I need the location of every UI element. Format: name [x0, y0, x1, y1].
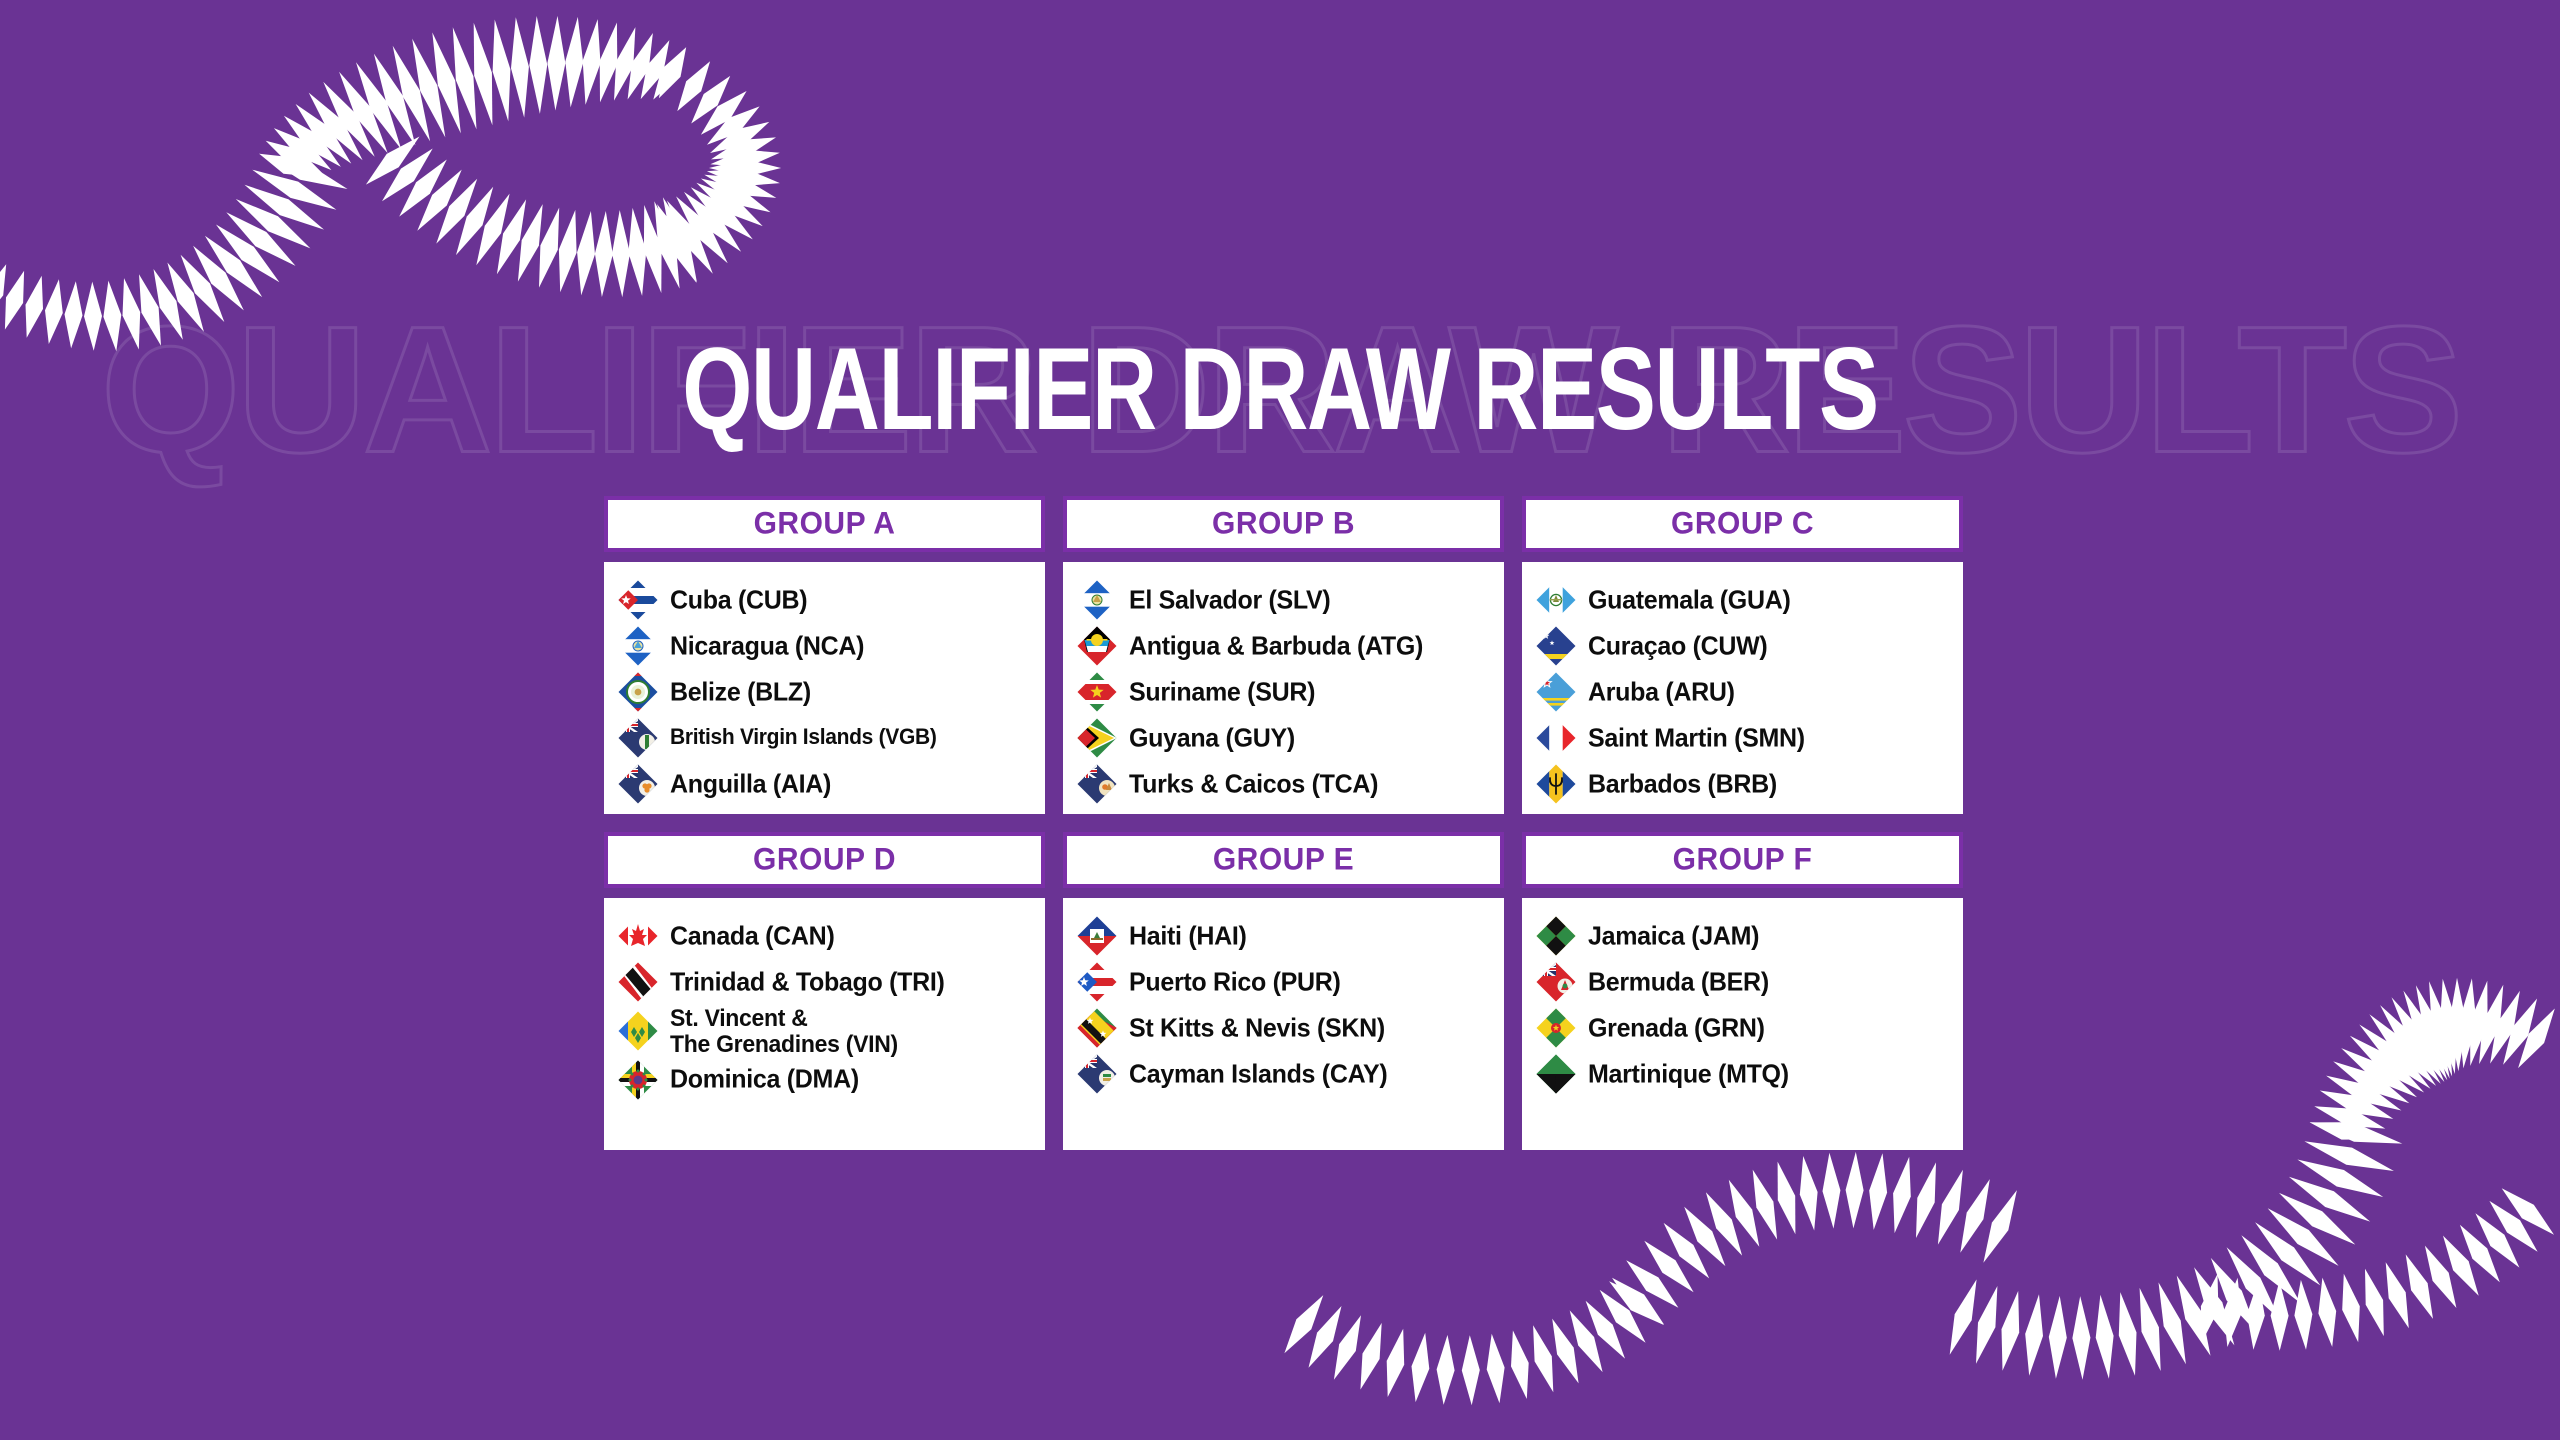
flag-cayman-islands-icon	[1077, 1054, 1117, 1094]
flag-haiti-icon	[1077, 916, 1117, 956]
group-team-list: Canada (CAN)Trinidad & Tobago (TRI)St. V…	[604, 898, 1045, 1150]
flag-el-salvador-icon	[1077, 580, 1117, 620]
team-name: Suriname (SUR)	[1129, 678, 1315, 706]
flag-aruba-icon	[1536, 672, 1576, 712]
flag-st-kitts-nevis-icon	[1077, 1008, 1117, 1048]
team-row: British Virgin Islands (VGB)	[618, 716, 1033, 760]
page-title: QUALIFIER DRAW RESULTS	[682, 323, 1878, 457]
team-row: Haiti (HAI)	[1077, 914, 1492, 958]
team-name: Cayman Islands (CAY)	[1129, 1060, 1387, 1088]
group-header-label: GROUP E	[1213, 842, 1354, 878]
team-row: Jamaica (JAM)	[1536, 914, 1951, 958]
flag-saint-martin-icon	[1536, 718, 1576, 758]
flag-cuba-icon	[618, 580, 658, 620]
flag-dominica-icon	[618, 1060, 658, 1100]
group-card-f: GROUP FJamaica (JAM)Bermuda (BER)Grenada…	[1522, 832, 1963, 1150]
group-card-b: GROUP BEl Salvador (SLV)Antigua & Barbud…	[1063, 496, 1504, 814]
team-row: Nicaragua (NCA)	[618, 624, 1033, 668]
flag-canada-icon	[618, 916, 658, 956]
group-header: GROUP C	[1522, 496, 1963, 552]
team-row: Bermuda (BER)	[1536, 960, 1951, 1004]
team-row: Barbados (BRB)	[1536, 762, 1951, 806]
team-name: Trinidad & Tobago (TRI)	[670, 968, 945, 996]
team-row: Trinidad & Tobago (TRI)	[618, 960, 1033, 1004]
flag-martinique-icon	[1536, 1054, 1576, 1094]
team-name: Dominica (DMA)	[670, 1066, 859, 1094]
team-name: Saint Martin (SMN)	[1588, 724, 1805, 752]
flag-curacao-icon	[1536, 626, 1576, 666]
team-row: Cuba (CUB)	[618, 578, 1033, 622]
team-row: St Kitts & Nevis (SKN)	[1077, 1006, 1492, 1050]
team-name: Anguilla (AIA)	[670, 770, 831, 798]
group-team-list: Haiti (HAI)Puerto Rico (PUR)St Kitts & N…	[1063, 898, 1504, 1150]
team-name: Grenada (GRN)	[1588, 1014, 1765, 1042]
team-row: Antigua & Barbuda (ATG)	[1077, 624, 1492, 668]
team-name: Belize (BLZ)	[670, 678, 811, 706]
team-row: Cayman Islands (CAY)	[1077, 1052, 1492, 1096]
team-name: Bermuda (BER)	[1588, 968, 1769, 996]
flag-belize-icon	[618, 672, 658, 712]
team-row: Suriname (SUR)	[1077, 670, 1492, 714]
team-row: Turks & Caicos (TCA)	[1077, 762, 1492, 806]
team-row: St. Vincent & The Grenadines (VIN)	[618, 1006, 1033, 1056]
flag-antigua-barbuda-icon	[1077, 626, 1117, 666]
groups-grid: GROUP ACuba (CUB)Nicaragua (NCA)Belize (…	[604, 496, 1964, 1150]
group-card-d: GROUP DCanada (CAN)Trinidad & Tobago (TR…	[604, 832, 1045, 1150]
team-row: Grenada (GRN)	[1536, 1006, 1951, 1050]
group-card-a: GROUP ACuba (CUB)Nicaragua (NCA)Belize (…	[604, 496, 1045, 814]
group-team-list: Guatemala (GUA)Curaçao (CUW)Aruba (ARU)S…	[1522, 562, 1963, 814]
team-name: Aruba (ARU)	[1588, 678, 1735, 706]
team-row: Dominica (DMA)	[618, 1058, 1033, 1102]
team-name: Nicaragua (NCA)	[670, 632, 864, 660]
team-row: Puerto Rico (PUR)	[1077, 960, 1492, 1004]
team-name: Barbados (BRB)	[1588, 770, 1777, 798]
team-name: Guatemala (GUA)	[1588, 586, 1790, 614]
team-row: Saint Martin (SMN)	[1536, 716, 1951, 760]
flag-bermuda-icon	[1536, 962, 1576, 1002]
team-name: St Kitts & Nevis (SKN)	[1129, 1014, 1385, 1042]
group-header: GROUP E	[1063, 832, 1504, 888]
title-block: QUALIFIER DRAW RESULTS QUALIFIER DRAW RE…	[0, 300, 2560, 480]
group-header: GROUP F	[1522, 832, 1963, 888]
team-name: St. Vincent & The Grenadines (VIN)	[670, 1005, 898, 1057]
team-name: Puerto Rico (PUR)	[1129, 968, 1341, 996]
group-team-list: Cuba (CUB)Nicaragua (NCA)Belize (BLZ)Bri…	[604, 562, 1045, 814]
flag-nicaragua-icon	[618, 626, 658, 666]
group-header: GROUP D	[604, 832, 1045, 888]
team-name: El Salvador (SLV)	[1129, 586, 1330, 614]
flag-grenada-icon	[1536, 1008, 1576, 1048]
team-row: Belize (BLZ)	[618, 670, 1033, 714]
team-name: Curaçao (CUW)	[1588, 632, 1767, 660]
flag-british-virgin-islands-icon	[618, 718, 658, 758]
team-name: Cuba (CUB)	[670, 586, 807, 614]
group-card-e: GROUP EHaiti (HAI)Puerto Rico (PUR)St Ki…	[1063, 832, 1504, 1150]
flag-guatemala-icon	[1536, 580, 1576, 620]
flag-suriname-icon	[1077, 672, 1117, 712]
team-row: Curaçao (CUW)	[1536, 624, 1951, 668]
team-name: Haiti (HAI)	[1129, 922, 1247, 950]
flag-anguilla-icon	[618, 764, 658, 804]
team-row: Martinique (MTQ)	[1536, 1052, 1951, 1096]
group-header-label: GROUP A	[754, 506, 896, 542]
team-row: El Salvador (SLV)	[1077, 578, 1492, 622]
group-team-list: El Salvador (SLV)Antigua & Barbuda (ATG)…	[1063, 562, 1504, 814]
group-header-label: GROUP C	[1671, 506, 1814, 542]
group-header-label: GROUP F	[1673, 842, 1813, 878]
team-row: Aruba (ARU)	[1536, 670, 1951, 714]
group-header: GROUP B	[1063, 496, 1504, 552]
team-row: Guatemala (GUA)	[1536, 578, 1951, 622]
flag-puerto-rico-icon	[1077, 962, 1117, 1002]
group-header: GROUP A	[604, 496, 1045, 552]
group-card-c: GROUP CGuatemala (GUA)Curaçao (CUW)Aruba…	[1522, 496, 1963, 814]
flag-trinidad-tobago-icon	[618, 962, 658, 1002]
team-row: Guyana (GUY)	[1077, 716, 1492, 760]
flag-turks-caicos-icon	[1077, 764, 1117, 804]
team-name: British Virgin Islands (VGB)	[670, 726, 937, 750]
group-team-list: Jamaica (JAM)Bermuda (BER)Grenada (GRN)M…	[1522, 898, 1963, 1150]
group-header-label: GROUP B	[1212, 506, 1355, 542]
flag-jamaica-icon	[1536, 916, 1576, 956]
team-row: Canada (CAN)	[618, 914, 1033, 958]
team-name: Antigua & Barbuda (ATG)	[1129, 632, 1423, 660]
team-name: Guyana (GUY)	[1129, 724, 1295, 752]
team-name: Martinique (MTQ)	[1588, 1060, 1789, 1088]
team-name: Turks & Caicos (TCA)	[1129, 770, 1378, 798]
flag-guyana-icon	[1077, 718, 1117, 758]
team-name: Canada (CAN)	[670, 922, 834, 950]
flag-barbados-icon	[1536, 764, 1576, 804]
team-name: Jamaica (JAM)	[1588, 922, 1759, 950]
group-header-label: GROUP D	[753, 842, 896, 878]
flag-st-vincent-grenadines-icon	[618, 1011, 658, 1051]
team-row: Anguilla (AIA)	[618, 762, 1033, 806]
